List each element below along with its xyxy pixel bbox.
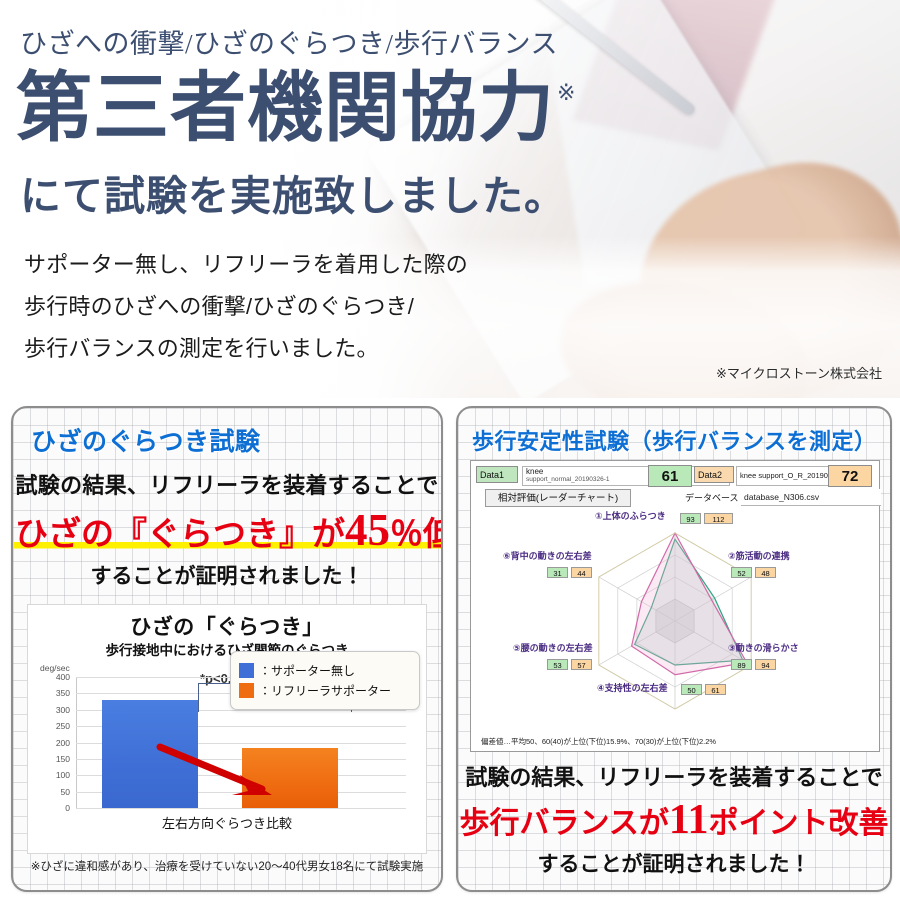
hero-body-line-2: 歩行時のひざへの衝撃/ひざのぐらつき/ (24, 290, 468, 324)
infographic-page: ひざへの衝撃/ひざのぐらつき/歩行バランス 第三者機関協力※ にて試験を実施致し… (0, 0, 900, 900)
data1-name-line1: knee (526, 467, 543, 476)
bar-chart-card: ひざの「ぐらつき」 歩行接地中におけるひざ関節のぐらつき deg/sec *p<… (27, 604, 427, 854)
hero-body-line-1: サポーター無し、リフリーラを着用した際の (24, 248, 468, 282)
deviation-note: 偏差値…平均50、60(40)が上位(下位)15.9%、70(30)が上位(下位… (481, 736, 716, 747)
left-claim-number: 45 (345, 505, 390, 555)
right-claim-highlight: 歩行バランスが11ポイント改善 (458, 796, 890, 844)
radar-value-1-data2: 112 (704, 513, 733, 524)
ytick-250: 250 (56, 721, 70, 731)
database-label: データベース (685, 491, 739, 504)
data2-tag: Data2 (694, 466, 734, 483)
radar-value-1-data1: 93 (680, 513, 701, 524)
right-claim-suffix: ポイント改善 (709, 807, 889, 840)
radar-values-3: 8994 (731, 655, 779, 673)
ytick-50: 50 (61, 787, 70, 797)
ytick-150: 150 (56, 754, 70, 764)
data2-score: 72 (828, 465, 872, 487)
left-panel-footnote: ※ひざに違和感があり、治療を受けていない20〜40代男女18名にて試験実施 (13, 858, 441, 874)
radar-value-5-data2: 57 (571, 659, 592, 670)
radar-value-4-data2: 61 (705, 684, 726, 695)
bar-refreela-supporter (242, 748, 338, 808)
radar-values-2: 5248 (731, 563, 779, 581)
left-claim-suffix: ％低下 (390, 517, 443, 553)
chart-title: ひざの「ぐらつき」 (28, 611, 426, 641)
hero-subheadline: にて試験を実施致しました。 (20, 172, 566, 220)
hero-kicker: ひざへの衝撃/ひざのぐらつき/歩行バランス (20, 22, 558, 61)
right-panel-title: 歩行安定性試験（歩行バランスを測定） (472, 424, 877, 456)
relative-evaluation-button[interactable]: 相対評価(レーダーチャート) (485, 489, 631, 507)
data-header-row: Data1 knee support_normal_20190326-1 61 … (476, 465, 874, 489)
legend-swatch-orange-icon (239, 683, 254, 698)
mode-and-database-row: 相対評価(レーダーチャート) データベース database_N306.csv (485, 489, 871, 509)
legend-label-no-supporter: ：サポーター無し (259, 662, 355, 679)
radar-chart-svg (475, 511, 875, 725)
hero-section: ひざへの衝撃/ひざのぐらつき/歩行バランス 第三者機関協力※ にて試験を実施致し… (0, 0, 900, 398)
panel-knee-wobble-test: ひざのぐらつき試験 試験の結果、リフリーラを装着することで ひざの『ぐらつき』が… (11, 406, 443, 892)
hero-credit: ※マイクロストーン株式会社 (716, 363, 882, 382)
left-panel-title: ひざのぐらつき試験 (31, 422, 261, 458)
radar-values-5: 5357 (547, 655, 595, 673)
ytick-0: 0 (65, 803, 70, 813)
left-claim-line-1: 試験の結果、リフリーラを装着することで (13, 468, 441, 500)
hero-body-text: サポーター無し、リフリーラを着用した際の 歩行時のひざへの衝撃/ひざのぐらつき/… (24, 248, 468, 374)
hero-headline-asterisk: ※ (557, 80, 575, 106)
radar-values-1: 93112 (680, 509, 736, 527)
radar-label-4: ④支持性の左右差 (597, 681, 668, 694)
data1-name-line2: support_normal_20190326-1 (526, 476, 609, 483)
radar-label-1: ①上体のふらつき (595, 509, 666, 522)
panel-gait-stability-test: 歩行安定性試験（歩行バランスを測定） Data1 knee support_no… (456, 406, 892, 892)
chart-legend: ：サポーター無し ：リフリーラサポーター (230, 651, 420, 710)
legend-item-no-supporter: ：サポーター無し (239, 662, 411, 679)
radar-value-6-data2: 44 (571, 567, 592, 578)
ytick-300: 300 (56, 705, 70, 715)
ytick-350: 350 (56, 688, 70, 698)
radar-value-6-data1: 31 (547, 567, 568, 578)
hero-headline: 第三者機関協力 (16, 66, 555, 152)
database-value-field[interactable]: database_N306.csv (741, 489, 881, 506)
radar-label-3: ③動きの滑らかさ (728, 641, 799, 654)
ytick-100: 100 (56, 770, 70, 780)
right-claim-line-3: することが証明されました！ (458, 848, 890, 878)
data1-score: 61 (648, 465, 692, 487)
ytick-200: 200 (56, 738, 70, 748)
radar-value-2-data1: 52 (731, 567, 752, 578)
legend-item-refreela: ：リフリーラサポーター (239, 682, 411, 699)
radar-values-4: 5061 (681, 680, 729, 698)
right-claim-prefix: 歩行バランスが (459, 807, 668, 840)
radar-value-3-data2: 94 (755, 659, 776, 670)
radar-value-5-data1: 53 (547, 659, 568, 670)
hero-body-line-3: 歩行バランスの測定を行いました。 (24, 332, 468, 366)
analysis-software-screenshot: Data1 knee support_normal_20190326-1 61 … (470, 460, 880, 752)
chart-x-axis-label: 左右方向ぐらつき比較 (28, 813, 426, 832)
left-claim-prefix: ひざの『ぐらつき』が (15, 517, 345, 553)
radar-value-4-data1: 50 (681, 684, 702, 695)
hero-headline-wrap: 第三者機関協力※ (16, 66, 575, 152)
radar-value-3-data1: 89 (731, 659, 752, 670)
legend-swatch-blue-icon (239, 663, 254, 678)
radar-chart: ①上体のふらつき 93112 ②筋活動の連携 5248 ③動きの滑らかさ 899… (475, 511, 875, 725)
radar-label-2: ②筋活動の連携 (728, 549, 790, 562)
left-claim-highlight: ひざの『ぐらつき』が45％低下 (13, 504, 441, 556)
bar-no-supporter (102, 700, 198, 808)
radar-label-5: ⑤腰の動きの左右差 (513, 641, 593, 654)
left-claim-line-3: することが証明されました！ (13, 560, 441, 590)
radar-values-6: 3144 (547, 563, 595, 581)
right-claim-line-1: 試験の結果、リフリーラを装着することで (458, 760, 890, 792)
panels-row: ひざのぐらつき試験 試験の結果、リフリーラを装着することで ひざの『ぐらつき』が… (0, 400, 900, 900)
data1-tag: Data1 (476, 466, 518, 483)
legend-label-refreela: ：リフリーラサポーター (259, 682, 391, 699)
right-claim-number: 11 (669, 797, 709, 843)
radar-label-6: ⑥背中の動きの左右差 (503, 549, 592, 562)
radar-value-2-data2: 48 (755, 567, 776, 578)
ytick-400: 400 (56, 672, 70, 682)
